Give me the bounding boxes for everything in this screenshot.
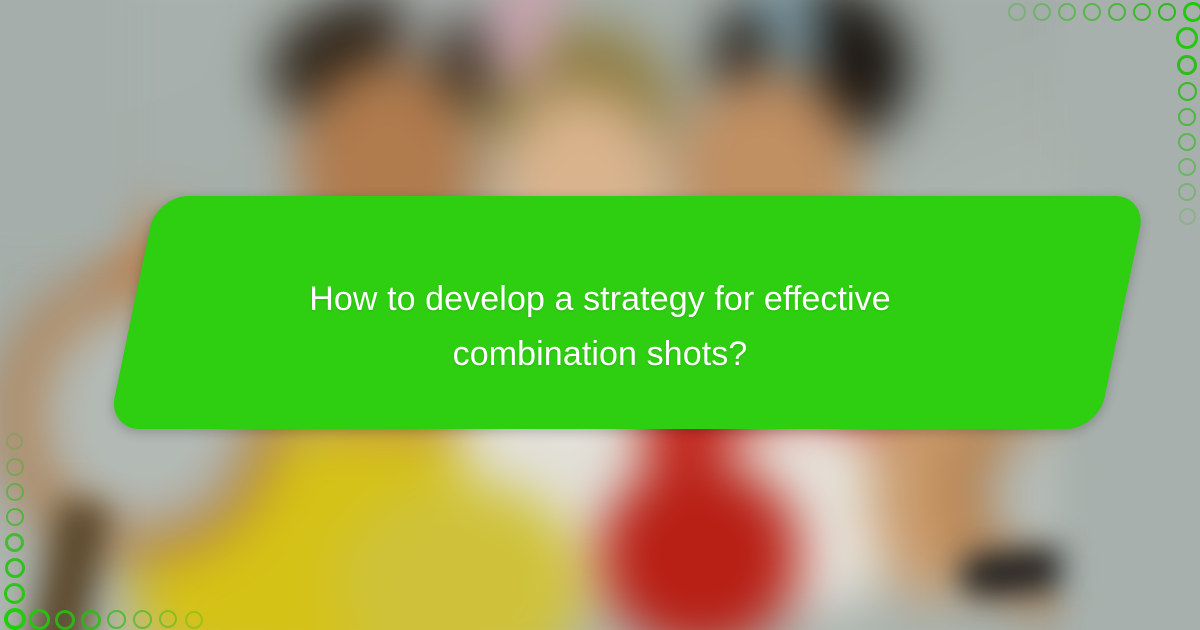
decor-dot [133,610,152,629]
decor-dot [4,583,25,604]
decor-dot [1033,3,1051,21]
decor-dot [6,483,24,501]
decor-dot [5,533,24,552]
decor-dot [1058,3,1076,21]
decor-dot [1083,3,1101,21]
decor-dot [1178,108,1196,126]
question-card[interactable] [108,196,1147,429]
decor-dot [55,610,75,630]
decor-dot [1158,3,1176,21]
decor-dot [185,611,203,629]
decor-dot [107,610,126,629]
decor-dot [1108,3,1126,21]
decor-dot [1008,3,1026,21]
decor-dot [1176,27,1198,49]
decor-dot [1177,55,1197,75]
decor-dot [1133,3,1151,21]
decor-dot [29,609,50,630]
question-card-canvas: How to develop a strategy for effective … [0,0,1200,630]
decor-dot [1178,183,1196,201]
decor-dot [1183,2,1200,22]
decor-dot [81,610,101,630]
decor-dot [159,610,177,628]
decor-dot [5,558,25,578]
decor-dot [6,458,24,476]
decor-dot [1178,82,1197,101]
decor-dot [1178,158,1196,176]
decor-dot [6,508,24,526]
decor-dot [6,433,23,450]
decor-dot [1178,133,1196,151]
decor-dot [4,608,26,630]
decor-dot [1179,208,1196,225]
